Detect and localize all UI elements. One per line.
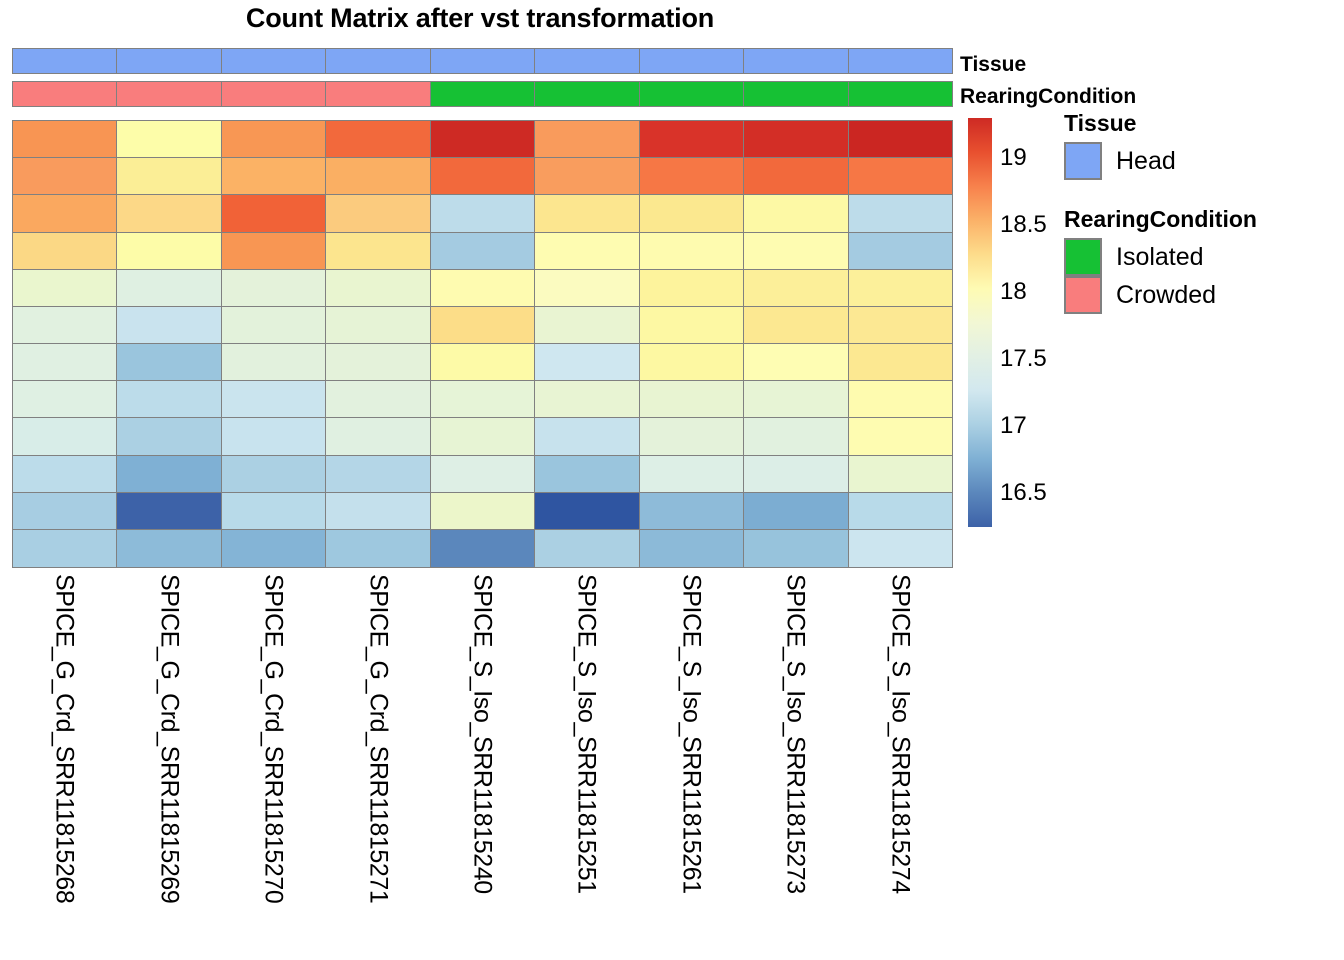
heatmap-cell [743, 269, 849, 308]
heatmap-cell [325, 232, 431, 271]
heatmap-cell [12, 343, 118, 382]
heatmap-cell [848, 380, 954, 419]
heatmap-cell [221, 232, 327, 271]
heatmap-cell [848, 120, 954, 159]
annotation-cell-tissue [116, 48, 222, 74]
heatmap-cell [325, 306, 431, 345]
x-axis-tick: SPICE_G_Crd_SRR11815271 [325, 570, 429, 958]
heatmap-cell [743, 194, 849, 233]
heatmap-cell [116, 417, 222, 456]
heatmap-row [12, 492, 952, 531]
heatmap-cell [848, 157, 954, 196]
annotation-cell-tissue [12, 48, 118, 74]
annotation-cell-rearingcondition [534, 81, 640, 107]
heatmap-row [12, 232, 952, 271]
heatmap-cell [116, 120, 222, 159]
heatmap-cell [639, 157, 745, 196]
heatmap-cell [221, 492, 327, 531]
x-axis-tick: SPICE_S_Iso_SRR11815240 [430, 570, 534, 958]
x-axis-tick-label: SPICE_G_Crd_SRR11815269 [154, 574, 183, 903]
heatmap-cell [221, 194, 327, 233]
heatmap-cell [430, 269, 536, 308]
annotation-title-tissue: Tissue [960, 54, 1026, 75]
page-title: Count Matrix after vst transformation [0, 3, 960, 34]
heatmap-cell [639, 194, 745, 233]
annotation-cell-tissue [325, 48, 431, 74]
heatmap-cell [534, 194, 640, 233]
heatmap-cell [221, 417, 327, 456]
heatmap-cell [116, 455, 222, 494]
legend-swatch-icon [1064, 276, 1102, 314]
heatmap-row [12, 306, 952, 345]
heatmap-row [12, 157, 952, 196]
heatmap-cell [430, 194, 536, 233]
heatmap-cell [221, 343, 327, 382]
heatmap-cell [221, 380, 327, 419]
heatmap-cell [743, 157, 849, 196]
heatmap-cell [534, 232, 640, 271]
x-axis-tick-labels: SPICE_G_Crd_SRR11815268SPICE_G_Crd_SRR11… [12, 570, 952, 958]
legend-swatch-icon [1064, 238, 1102, 276]
heatmap-panel [12, 48, 952, 566]
heatmap-cell [639, 417, 745, 456]
heatmap-cell [12, 380, 118, 419]
annotation-cell-rearingcondition [639, 81, 745, 107]
heatmap-cell [743, 120, 849, 159]
heatmap-row [12, 380, 952, 419]
heatmap-cell [430, 417, 536, 456]
heatmap-cell [116, 343, 222, 382]
annotation-row-tissue [12, 48, 952, 74]
heatmap-cell [221, 269, 327, 308]
heatmap-cell [325, 194, 431, 233]
heatmap-cell [116, 380, 222, 419]
x-axis-tick-label: SPICE_S_Iso_SRR11815240 [467, 574, 496, 894]
heatmap-cell [639, 306, 745, 345]
heatmap-cell [221, 120, 327, 159]
annotation-cell-rearingcondition [848, 81, 954, 107]
heatmap-cell [12, 232, 118, 271]
heatmap-cell [116, 492, 222, 531]
heatmap-cell [430, 120, 536, 159]
legend-swatch-icon [1064, 142, 1102, 180]
heatmap-cell [12, 455, 118, 494]
heatmap-cell [534, 269, 640, 308]
annotation-cell-rearingcondition [221, 81, 327, 107]
annotation-title-rearingcondition: RearingCondition [960, 86, 1136, 107]
heatmap-cell [430, 232, 536, 271]
annotation-row-rearingcondition [12, 81, 952, 107]
legend-entry-tissue[interactable]: Head [1064, 142, 1176, 180]
heatmap-cell [116, 269, 222, 308]
heatmap-cell [848, 306, 954, 345]
x-axis-tick-label: SPICE_S_Iso_SRR11815274 [885, 574, 914, 894]
heatmap-cell [848, 269, 954, 308]
heatmap-cell [639, 492, 745, 531]
heatmap-cell [639, 529, 745, 568]
heatmap-cell [534, 343, 640, 382]
heatmap-cell [325, 120, 431, 159]
heatmap-cell [430, 529, 536, 568]
heatmap-cell [639, 232, 745, 271]
heatmap-cell [116, 194, 222, 233]
x-axis-tick: SPICE_S_Iso_SRR11815274 [848, 570, 952, 958]
heatmap-cell [848, 232, 954, 271]
annotation-cell-tissue [743, 48, 849, 74]
colorbar-tick-label: 17.5 [1000, 345, 1047, 373]
legend-entry-label: Isolated [1116, 243, 1204, 272]
colorbar: 1918.51817.51716.5 [968, 118, 992, 527]
heatmap-cell [743, 492, 849, 531]
heatmap-row [12, 194, 952, 233]
heatmap-cell [743, 343, 849, 382]
heatmap-cell [848, 455, 954, 494]
heatmap-cell [639, 269, 745, 308]
heatmap-cell [639, 120, 745, 159]
legend-rearingcondition-title: RearingCondition [1064, 206, 1257, 233]
x-axis-tick-label: SPICE_G_Crd_SRR11815271 [363, 574, 392, 903]
heatmap-cell [116, 529, 222, 568]
x-axis-tick-label: SPICE_S_Iso_SRR11815251 [572, 574, 601, 894]
annotation-cell-tissue [534, 48, 640, 74]
x-axis-tick: SPICE_G_Crd_SRR11815269 [116, 570, 220, 958]
annotation-cell-tissue [639, 48, 745, 74]
heatmap-row [12, 269, 952, 308]
heatmap-cell [12, 194, 118, 233]
legend-entry-label: Crowded [1116, 281, 1216, 310]
legend-rearingcondition: RearingCondition IsolatedCrowded [1064, 206, 1257, 314]
x-axis-tick-label: SPICE_S_Iso_SRR11815273 [781, 574, 810, 894]
heatmap-cell [743, 380, 849, 419]
heatmap-cell [116, 306, 222, 345]
heatmap-cell [848, 417, 954, 456]
heatmap-cell [12, 492, 118, 531]
heatmap-cell [221, 529, 327, 568]
x-axis-tick: SPICE_S_Iso_SRR11815273 [743, 570, 847, 958]
heatmap-cell [221, 157, 327, 196]
heatmap-cell [848, 343, 954, 382]
heatmap-cell [12, 157, 118, 196]
heatmap-cell [430, 492, 536, 531]
heatmap-cell [12, 269, 118, 308]
annotation-cell-rearingcondition [430, 81, 536, 107]
heatmap-cell [639, 380, 745, 419]
heatmap-cell [325, 417, 431, 456]
heatmap-cell [430, 157, 536, 196]
heatmap-cell [430, 306, 536, 345]
heatmap-cell [325, 492, 431, 531]
annotation-cell-rearingcondition [116, 81, 222, 107]
annotation-cell-tissue [848, 48, 954, 74]
heatmap-cell [743, 455, 849, 494]
heatmap-cell [534, 529, 640, 568]
colorbar-tick-label: 17 [1000, 412, 1027, 440]
heatmap-cell [325, 343, 431, 382]
heatmap-row [12, 343, 952, 382]
heatmap-cell [534, 157, 640, 196]
legend-tissue: Tissue Head [1064, 110, 1176, 180]
heatmap-cell [534, 380, 640, 419]
heatmap-cell [743, 306, 849, 345]
heatmap-cell [221, 455, 327, 494]
heatmap-cell [534, 492, 640, 531]
heatmap-cell [221, 306, 327, 345]
legend-entry-rearingcondition[interactable]: Isolated [1064, 238, 1257, 276]
heatmap-row [12, 417, 952, 456]
heatmap-cell [639, 455, 745, 494]
annotation-cell-rearingcondition [12, 81, 118, 107]
heatmap-cell [534, 120, 640, 159]
x-axis-tick-label: SPICE_G_Crd_SRR11815268 [50, 574, 79, 903]
colorbar-tick-label: 18.5 [1000, 211, 1047, 239]
heatmap-cell [325, 269, 431, 308]
heatmap-row [12, 120, 952, 159]
heatmap-cell [534, 417, 640, 456]
colorbar-gradient [968, 118, 992, 527]
colorbar-tick-label: 16.5 [1000, 479, 1047, 507]
legend-tissue-title: Tissue [1064, 110, 1176, 137]
heatmap-cell [116, 157, 222, 196]
heatmap-cell [848, 194, 954, 233]
heatmap-cell [534, 455, 640, 494]
annotation-cell-tissue [221, 48, 327, 74]
annotation-cell-tissue [430, 48, 536, 74]
heatmap-cell [743, 232, 849, 271]
heatmap-cell [848, 492, 954, 531]
x-axis-tick-label: SPICE_S_Iso_SRR11815261 [676, 574, 705, 894]
heatmap-cell [325, 455, 431, 494]
heatmap-cell [430, 455, 536, 494]
legend-entry-label: Head [1116, 147, 1176, 176]
heatmap-cell [12, 306, 118, 345]
heatmap-cell [325, 380, 431, 419]
heatmap-row [12, 529, 952, 568]
heatmap-cell [116, 232, 222, 271]
heatmap-cell [325, 157, 431, 196]
heatmap-cell [430, 343, 536, 382]
heatmap-cell [534, 306, 640, 345]
heatmap-cell [743, 529, 849, 568]
colorbar-tick-label: 19 [1000, 144, 1027, 172]
x-axis-tick: SPICE_S_Iso_SRR11815261 [639, 570, 743, 958]
heatmap-grid [12, 120, 952, 566]
heatmap-cell [12, 120, 118, 159]
x-axis-tick: SPICE_S_Iso_SRR11815251 [534, 570, 638, 958]
heatmap-cell [12, 417, 118, 456]
heatmap-row [12, 455, 952, 494]
annotation-cell-rearingcondition [743, 81, 849, 107]
heatmap-cell [325, 529, 431, 568]
heatmap-cell [12, 529, 118, 568]
annotation-cell-rearingcondition [325, 81, 431, 107]
x-axis-tick: SPICE_G_Crd_SRR11815270 [221, 570, 325, 958]
legend-entry-rearingcondition[interactable]: Crowded [1064, 276, 1257, 314]
colorbar-tick-label: 18 [1000, 278, 1027, 306]
heatmap-cell [848, 529, 954, 568]
heatmap-cell [743, 417, 849, 456]
x-axis-tick-label: SPICE_G_Crd_SRR11815270 [259, 574, 288, 903]
heatmap-cell [430, 380, 536, 419]
x-axis-tick: SPICE_G_Crd_SRR11815268 [12, 570, 116, 958]
heatmap-cell [639, 343, 745, 382]
